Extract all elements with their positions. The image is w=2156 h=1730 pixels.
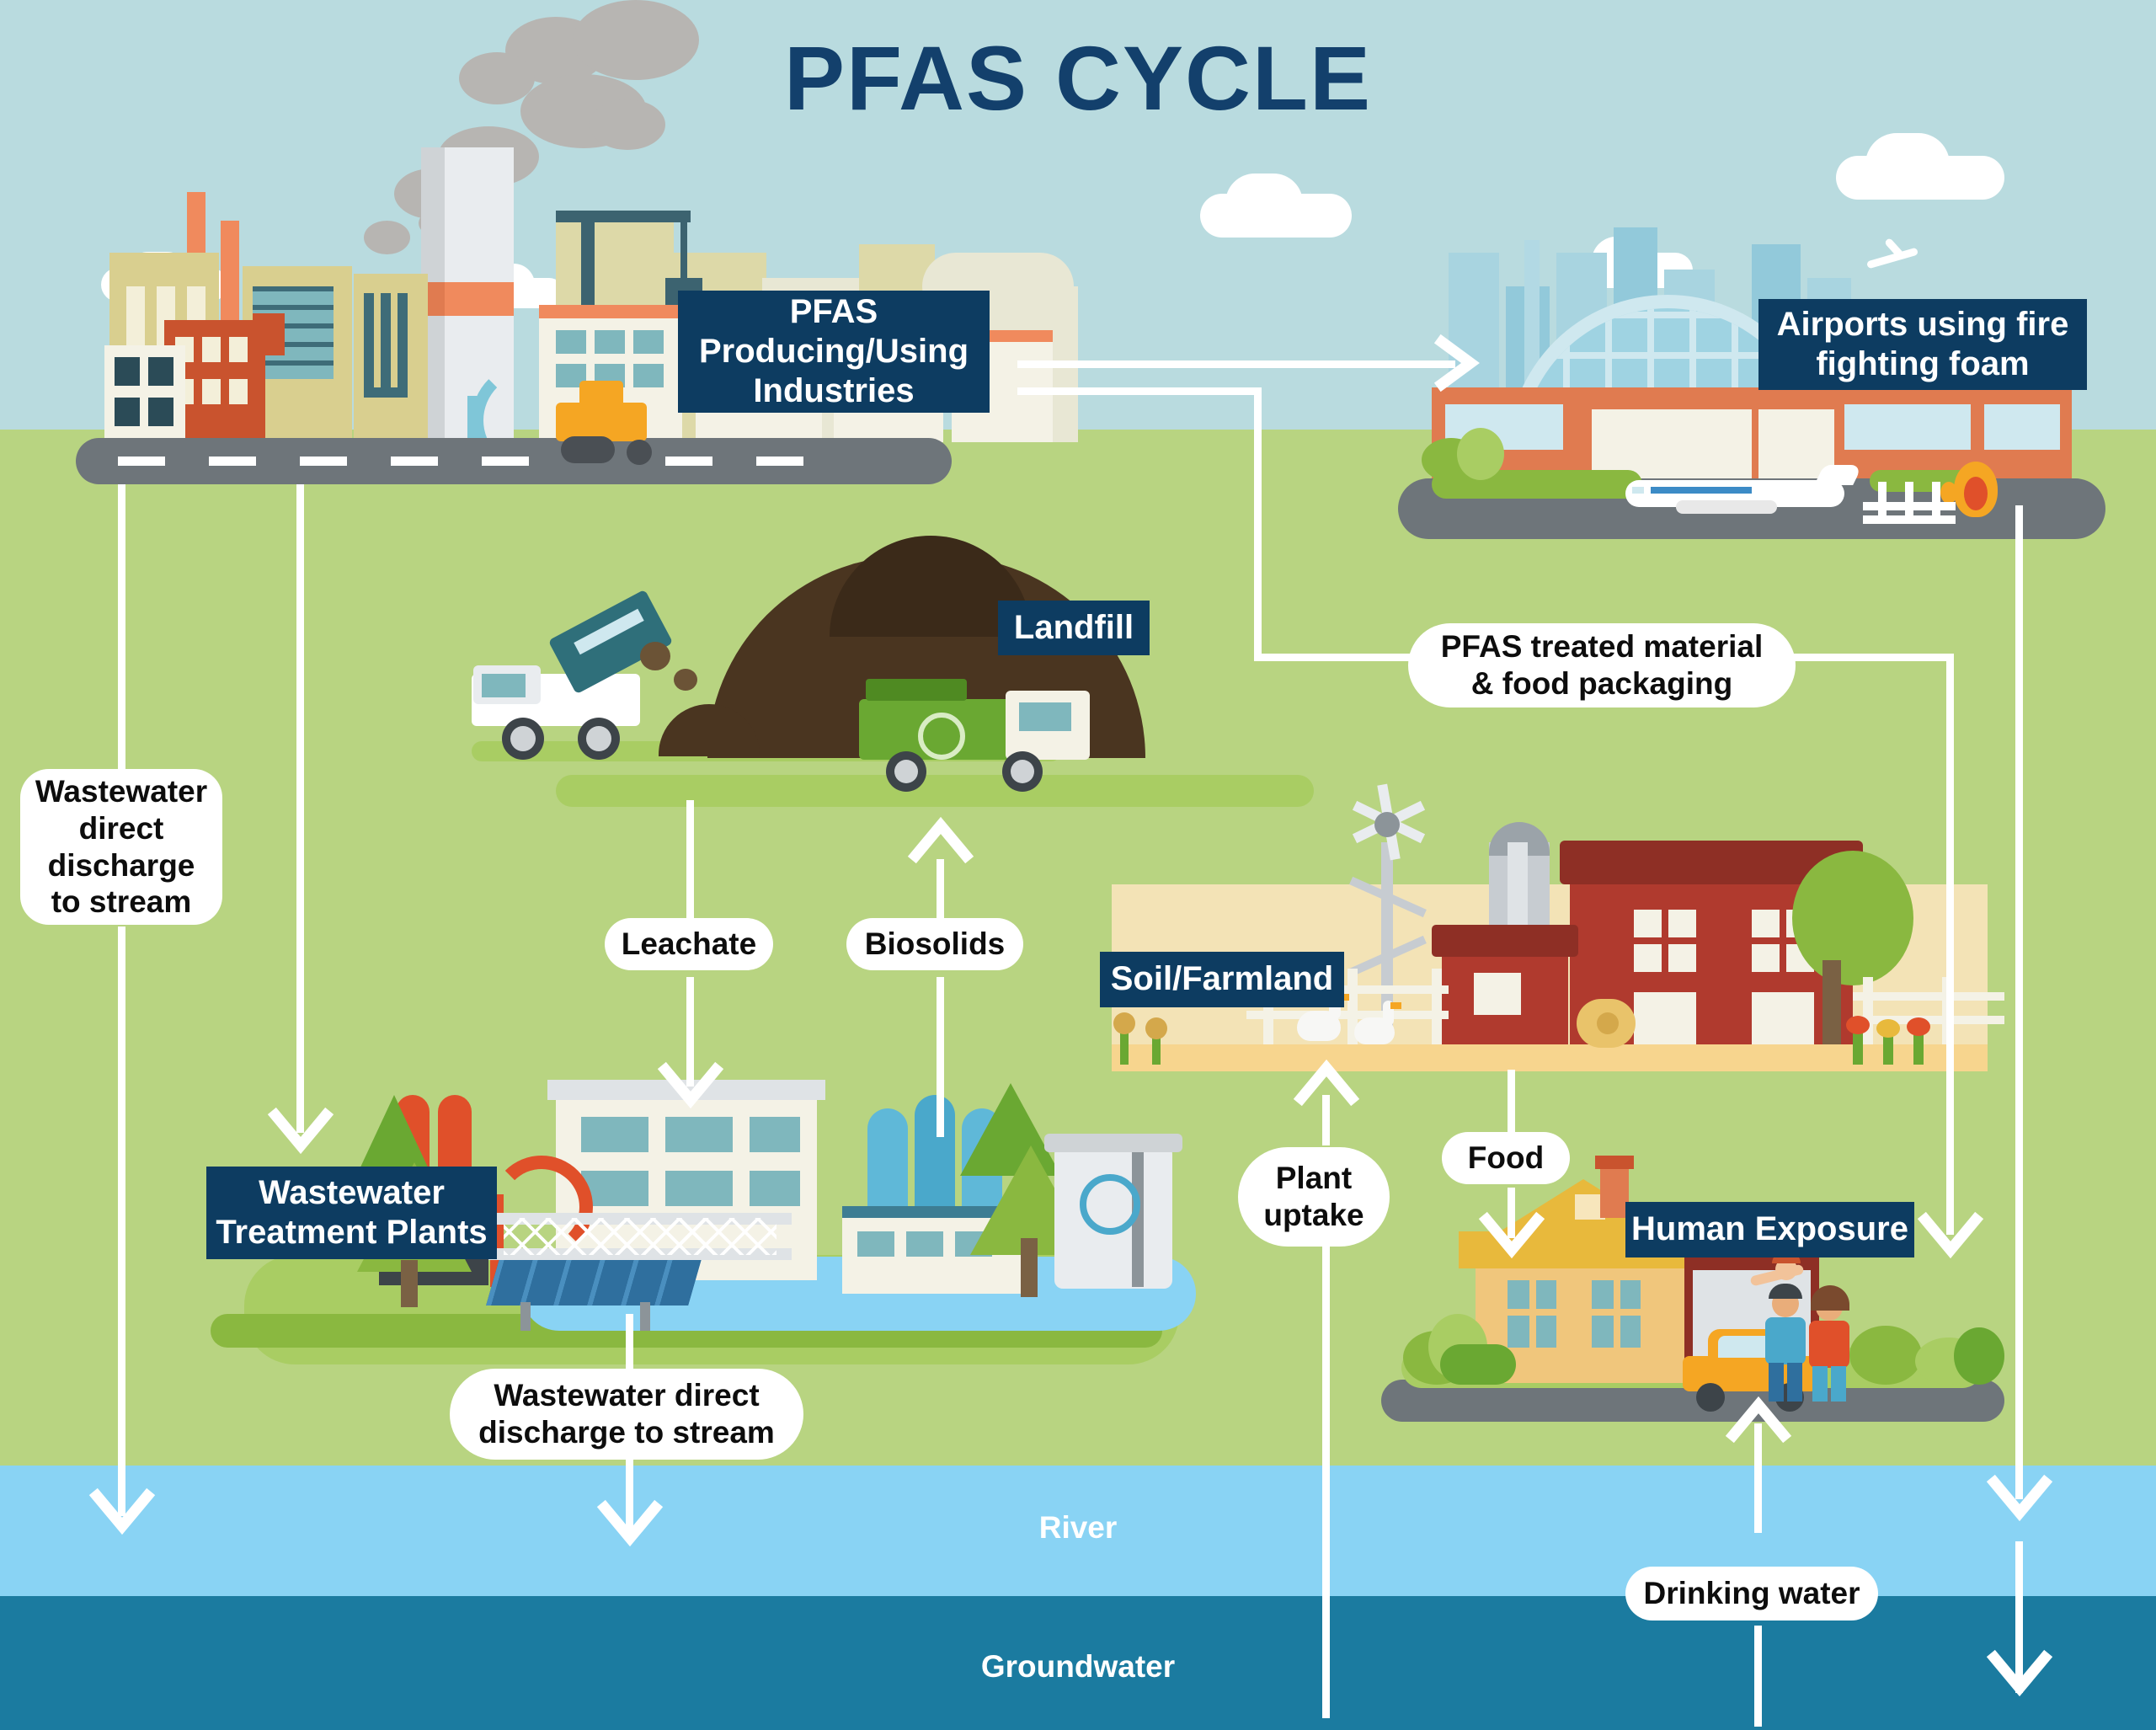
flow-leachate[interactable]: Leachate: [605, 918, 773, 970]
flow-plant-uptake[interactable]: Plant uptake: [1238, 1147, 1390, 1247]
flow-wastewater-direct-left[interactable]: Wastewater direct discharge to stream: [20, 769, 222, 925]
node-airports[interactable]: Airports using fire fighting foam: [1758, 299, 2087, 390]
node-wwtp[interactable]: Wastewater Treatment Plants: [206, 1167, 497, 1259]
page-title: PFAS CYCLE: [0, 25, 2156, 131]
flow-wastewater-direct-bottom[interactable]: Wastewater direct discharge to stream: [450, 1369, 803, 1460]
recycling-icon: [1080, 1174, 1140, 1235]
flow-biosolids[interactable]: Biosolids: [846, 918, 1023, 970]
node-human-exposure[interactable]: Human Exposure: [1625, 1202, 1914, 1257]
infographic-canvas: PFAS CYCLE PFAS Producing/Using Industri…: [0, 0, 2156, 1730]
flow-food[interactable]: Food: [1442, 1132, 1570, 1184]
node-landfill[interactable]: Landfill: [998, 601, 1150, 655]
node-soil-farmland[interactable]: Soil/Farmland: [1100, 952, 1344, 1007]
label-river: River: [994, 1508, 1162, 1548]
flow-pfas-treated-material[interactable]: PFAS treated material & food packaging: [1408, 623, 1796, 707]
node-pfas-industries[interactable]: PFAS Producing/Using Industries: [678, 291, 990, 413]
label-groundwater: Groundwater: [952, 1647, 1204, 1687]
flow-drinking-water[interactable]: Drinking water: [1625, 1567, 1878, 1621]
recycling-icon: [918, 713, 965, 760]
